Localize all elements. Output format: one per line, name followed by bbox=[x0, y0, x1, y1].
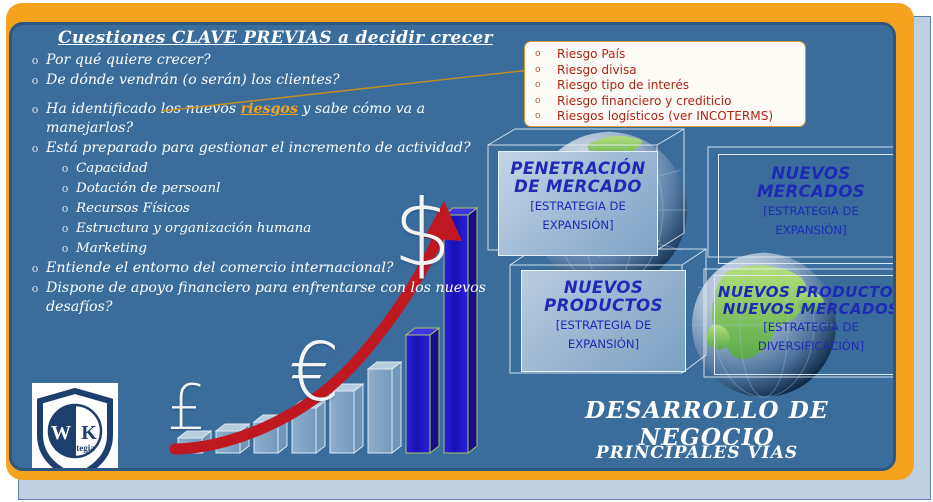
shield-icon: W K Estrategia bbox=[32, 383, 118, 471]
quadrant-title-line2: NUEVOS MERCADOS bbox=[715, 301, 896, 318]
quadrant-penetracion-de-mercado: PENETRACIÓN DE MERCADO [ESTRATEGIA DE EX… bbox=[498, 151, 658, 256]
quadrant-sub-line1: [ESTRATEGIA DE bbox=[499, 197, 657, 216]
bullet-icon: o bbox=[535, 109, 557, 125]
list-item-label: Por qué quiere crecer? bbox=[46, 51, 488, 70]
risk-item: o Riesgos logísticos (ver INCOTERMS) bbox=[535, 109, 799, 125]
list-item: o Capacidad bbox=[18, 159, 488, 178]
bullet-icon: o bbox=[535, 63, 557, 79]
riesgos-highlight: riesgos bbox=[241, 101, 298, 117]
list-item-label: Ha identificado los nuevos riesgos y sab… bbox=[46, 100, 488, 138]
bullet-icon: o bbox=[24, 100, 46, 119]
list-item: o Está preparado para gestionar el incre… bbox=[18, 139, 488, 158]
risk-item-label: Riesgos logísticos (ver INCOTERMS) bbox=[557, 109, 773, 125]
list-item: o De dónde vendrán (o serán) los cliente… bbox=[18, 71, 488, 90]
bullet-icon: o bbox=[535, 78, 557, 94]
bullet-icon: o bbox=[54, 159, 76, 178]
slide-blue-panel: Cuestiones CLAVE PREVIAS a decidir crece… bbox=[9, 22, 896, 471]
quadrant-sub-line1: [ESTRATEGIA DE bbox=[715, 318, 896, 337]
quadrant-sub-line2: EXPANSIÓN] bbox=[522, 335, 685, 354]
bullet-icon: o bbox=[24, 259, 46, 278]
list-item-label: De dónde vendrán (o serán) los clientes? bbox=[46, 71, 488, 90]
bullet-icon: o bbox=[535, 47, 557, 63]
list-item-label: Está preparado para gestionar el increme… bbox=[46, 139, 488, 158]
section-subheading-principales-vias: PRINCIPALES VÍAS bbox=[522, 443, 872, 463]
bullet-icon: o bbox=[535, 94, 557, 110]
quadrant-title-line1: NUEVOS bbox=[522, 279, 685, 297]
logo-initial-left: W bbox=[51, 422, 71, 444]
quadrant-sub-line2: DIVERSIFICACIÓN] bbox=[715, 337, 896, 356]
bullet-icon: o bbox=[24, 71, 46, 90]
pound-symbol-icon: £ bbox=[167, 377, 206, 439]
risk-callout-box: o Riesgo País o Riesgo divisa o Riesgo t… bbox=[524, 41, 806, 127]
logo-wordmark: Estrategia bbox=[55, 443, 95, 453]
quadrant-title-line2: MERCADOS bbox=[719, 183, 896, 201]
quadrant-sub-line1: [ESTRATEGIA DE bbox=[522, 316, 685, 335]
bullet-icon: o bbox=[54, 239, 76, 258]
risk-item: o Riesgo divisa bbox=[535, 63, 799, 79]
bullet-icon: o bbox=[54, 219, 76, 238]
quadrant-title-line1: NUEVOS bbox=[719, 165, 896, 183]
risk-item-label: Riesgo financiero y crediticio bbox=[557, 94, 732, 110]
bullet-icon: o bbox=[24, 51, 46, 70]
quadrant-title-line1: PENETRACIÓN bbox=[499, 160, 657, 178]
spacer bbox=[18, 91, 488, 100]
quadrant-nuevos-productos-nuevos-mercados: NUEVOS PRODUCTOS NUEVOS MERCADOS [ESTRAT… bbox=[714, 275, 896, 375]
quadrant-title-line1: NUEVOS PRODUCTOS bbox=[715, 284, 896, 301]
list-item: o Por qué quiere crecer? bbox=[18, 51, 488, 70]
logo-initial-right: K bbox=[81, 422, 97, 444]
quadrant-nuevos-mercados: NUEVOS MERCADOS [ESTRATEGIA DE EXPANSIÓN… bbox=[718, 154, 896, 264]
logo-wk-estrategia: W K Estrategia bbox=[32, 383, 118, 471]
bullet-icon: o bbox=[24, 279, 46, 298]
risk-item: o Riesgo País bbox=[535, 47, 799, 63]
quadrant-title-line2: DE MERCADO bbox=[499, 178, 657, 196]
riesgos-prefix: Ha identificado los nuevos bbox=[46, 101, 241, 117]
risk-item: o Riesgo tipo de interés bbox=[535, 78, 799, 94]
risk-item-label: Riesgo divisa bbox=[557, 63, 637, 79]
risk-item-label: Riesgo País bbox=[557, 47, 625, 63]
dollar-symbol-icon: $ bbox=[393, 188, 452, 280]
risk-item: o Riesgo financiero y crediticio bbox=[535, 94, 799, 110]
bullet-icon: o bbox=[54, 199, 76, 218]
risk-item-label: Riesgo tipo de interés bbox=[557, 78, 689, 94]
bullet-icon: o bbox=[54, 179, 76, 198]
quadrant-sub-line1: [ESTRATEGIA DE bbox=[719, 202, 896, 221]
list-item-label: Capacidad bbox=[76, 159, 488, 178]
list-item-riesgos: o Ha identificado los nuevos riesgos y s… bbox=[18, 100, 488, 138]
euro-symbol-icon: € bbox=[289, 333, 340, 413]
bullet-icon: o bbox=[24, 139, 46, 158]
page-title: Cuestiones CLAVE PREVIAS a decidir crece… bbox=[58, 28, 493, 48]
quadrant-sub-line2: EXPANSIÓN] bbox=[719, 221, 896, 240]
slide-root: Cuestiones CLAVE PREVIAS a decidir crece… bbox=[0, 0, 933, 502]
quadrant-sub-line2: EXPANSIÓN] bbox=[499, 216, 657, 235]
quadrant-nuevos-productos: NUEVOS PRODUCTOS [ESTRATEGIA DE EXPANSIÓ… bbox=[521, 270, 686, 372]
quadrant-title-line2: PRODUCTOS bbox=[522, 297, 685, 315]
